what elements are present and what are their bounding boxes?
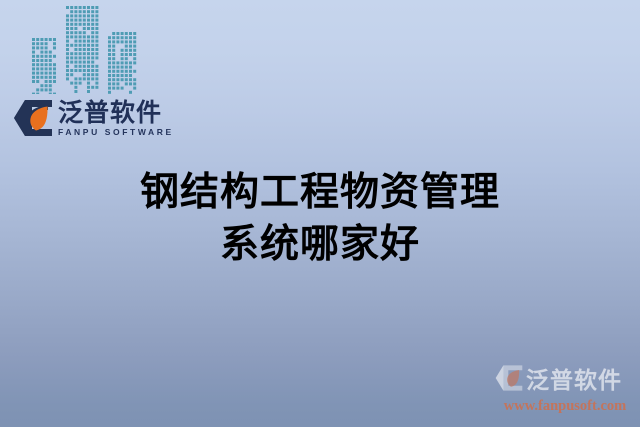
watermark-url: www.fanpusoft.com [494, 398, 636, 415]
brand-text-block: 泛普软件 FANPU SOFTWARE [58, 100, 174, 137]
page-title-line-2: 系统哪家好 [0, 219, 640, 271]
pixel-cityscape-icon [30, 2, 140, 94]
promo-slide: 泛普软件 FANPU SOFTWARE 钢结构工程物资管理 系统哪家好 泛普软件… [0, 0, 640, 427]
fanpu-hexagon-swoosh-logo-icon [12, 98, 54, 138]
brand-name-cn: 泛普软件 [58, 100, 174, 125]
fanpu-hexagon-swoosh-logo-icon [494, 364, 524, 392]
brand-logo: 泛普软件 FANPU SOFTWARE [12, 94, 172, 142]
watermark-logo-row: 泛普软件 [494, 359, 636, 397]
page-title-line-1: 钢结构工程物资管理 [0, 167, 640, 219]
watermark: 泛普软件 www.fanpusoft.com [494, 359, 636, 421]
page-title: 钢结构工程物资管理 系统哪家好 [0, 167, 640, 271]
brand-name-en: FANPU SOFTWARE [58, 128, 174, 137]
watermark-name-cn: 泛普软件 [526, 361, 622, 395]
